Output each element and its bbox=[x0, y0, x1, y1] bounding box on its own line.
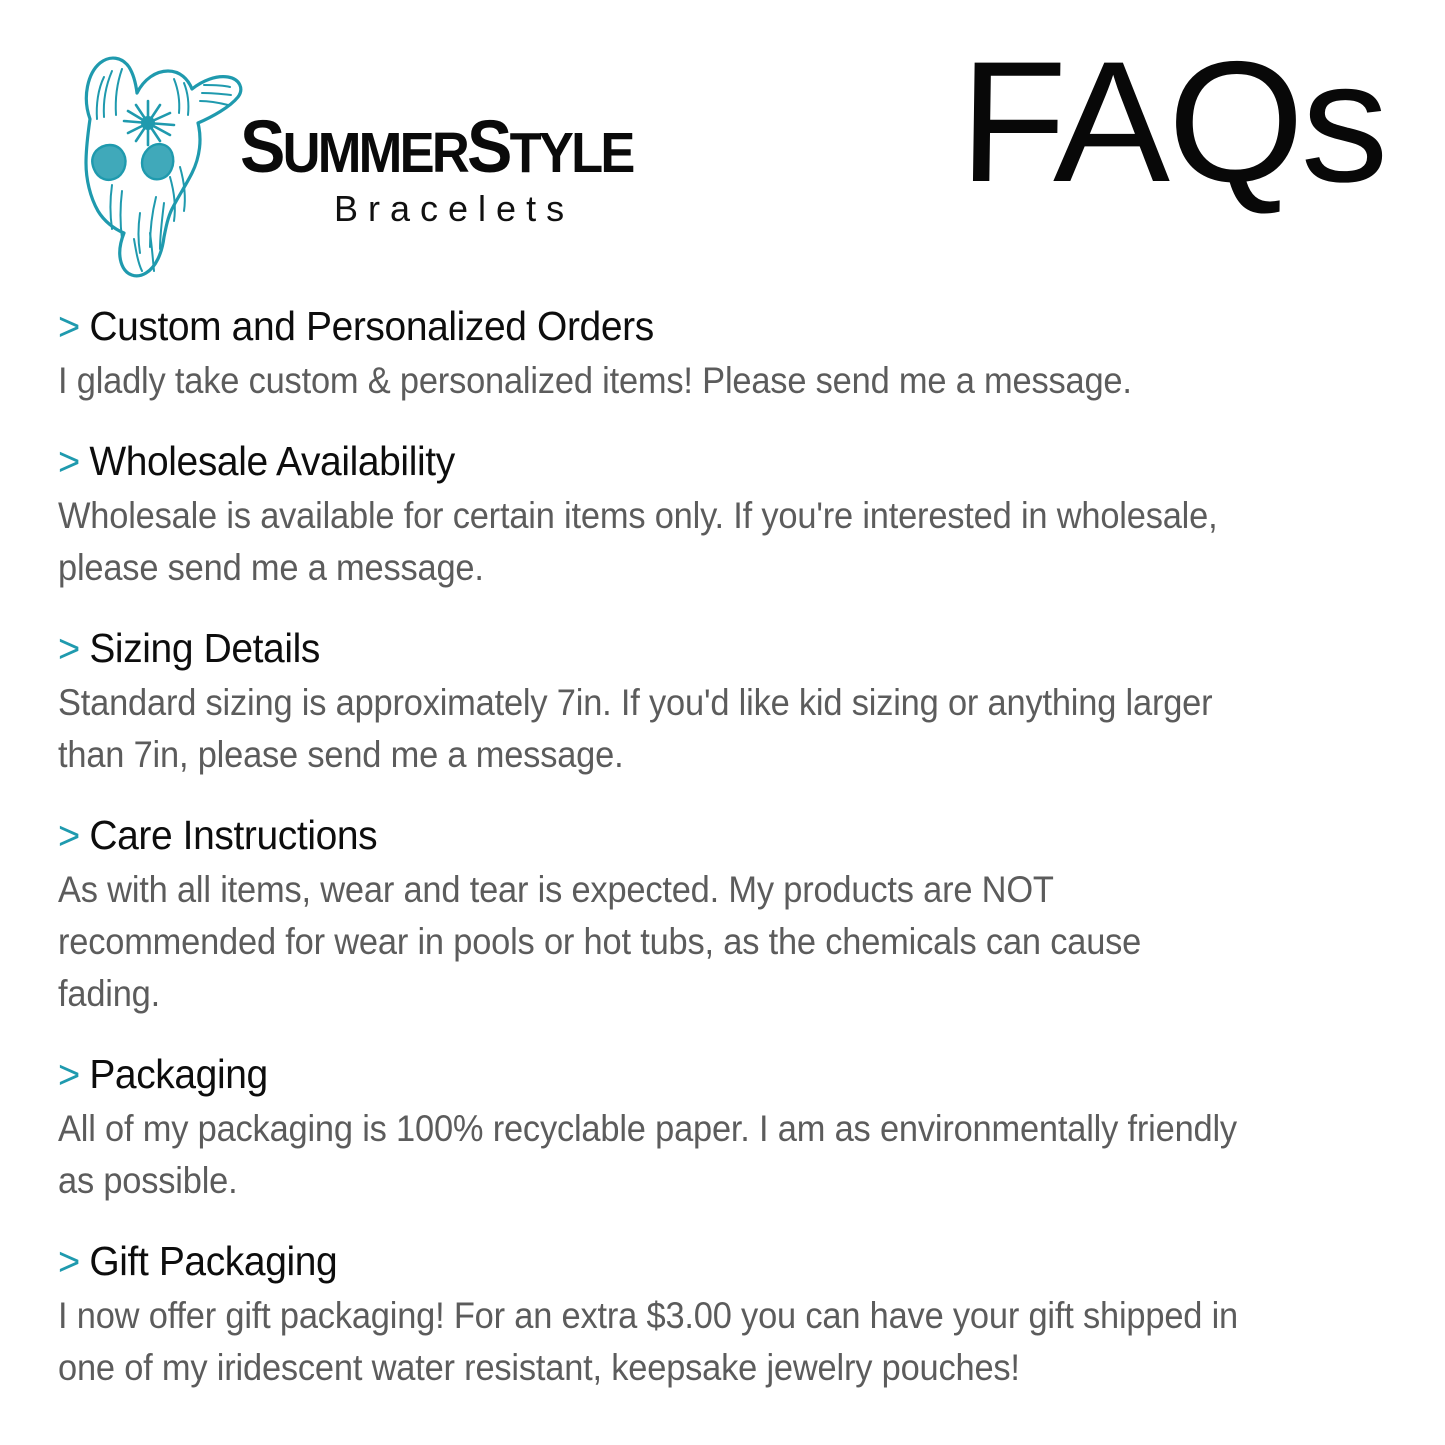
brand-tagline: Bracelets bbox=[334, 190, 574, 228]
chevron-right-icon: > bbox=[58, 301, 80, 353]
faq-body: As with all items, wear and tear is expe… bbox=[58, 864, 1248, 1020]
faq-heading[interactable]: > Care Instructions bbox=[58, 809, 1189, 862]
faq-section: > Custom and Personalized Orders I gladl… bbox=[58, 300, 1248, 407]
faq-heading[interactable]: > Packaging bbox=[58, 1048, 1189, 1101]
faq-heading[interactable]: > Gift Packaging bbox=[58, 1235, 1189, 1288]
faq-heading-label: Packaging bbox=[89, 1048, 267, 1100]
wordmark-s2: S bbox=[467, 105, 510, 188]
faq-section: > Care Instructions As with all items, w… bbox=[58, 809, 1248, 1020]
chevron-right-icon: > bbox=[58, 810, 80, 862]
starfish-icon bbox=[52, 27, 252, 292]
page-header: SUMMERSTYLE Bracelets FAQs bbox=[0, 0, 1445, 285]
brand-logo: SUMMERSTYLE Bracelets bbox=[52, 22, 672, 287]
faq-heading[interactable]: > Wholesale Availability bbox=[58, 435, 1189, 488]
chevron-right-icon: > bbox=[58, 623, 80, 675]
wordmark-tyle: TYLE bbox=[510, 121, 633, 185]
chevron-right-icon: > bbox=[58, 436, 80, 488]
faq-section: > Packaging All of my packaging is 100% … bbox=[58, 1048, 1248, 1207]
faq-body: I gladly take custom & personalized item… bbox=[58, 355, 1248, 407]
faq-body: All of my packaging is 100% recyclable p… bbox=[58, 1103, 1248, 1207]
faq-heading-label: Wholesale Availability bbox=[89, 435, 454, 487]
faq-body: Wholesale is available for certain items… bbox=[58, 490, 1248, 594]
faq-body: I now offer gift packaging! For an extra… bbox=[58, 1290, 1248, 1394]
faq-heading-label: Sizing Details bbox=[89, 622, 320, 674]
faq-body: Standard sizing is approximately 7in. If… bbox=[58, 677, 1248, 781]
wordmark-ummer: UMMER bbox=[283, 121, 467, 185]
faq-section: > Gift Packaging I now offer gift packag… bbox=[58, 1235, 1248, 1394]
faq-heading-label: Care Instructions bbox=[89, 809, 377, 861]
faq-heading-label: Custom and Personalized Orders bbox=[89, 300, 653, 352]
faq-section: > Wholesale Availability Wholesale is av… bbox=[58, 435, 1248, 594]
wordmark-s1: S bbox=[240, 105, 283, 188]
faq-heading-label: Gift Packaging bbox=[89, 1235, 337, 1287]
brand-wordmark: SUMMERSTYLE Bracelets bbox=[240, 110, 660, 210]
brand-wordmark-main: SUMMERSTYLE bbox=[240, 110, 626, 190]
chevron-right-icon: > bbox=[58, 1049, 80, 1101]
faq-section: > Sizing Details Standard sizing is appr… bbox=[58, 622, 1248, 781]
chevron-right-icon: > bbox=[58, 1236, 80, 1288]
page-title: FAQs bbox=[958, 36, 1387, 208]
faq-heading[interactable]: > Sizing Details bbox=[58, 622, 1189, 675]
faq-list: > Custom and Personalized Orders I gladl… bbox=[58, 300, 1248, 1422]
faq-heading[interactable]: > Custom and Personalized Orders bbox=[58, 300, 1189, 353]
